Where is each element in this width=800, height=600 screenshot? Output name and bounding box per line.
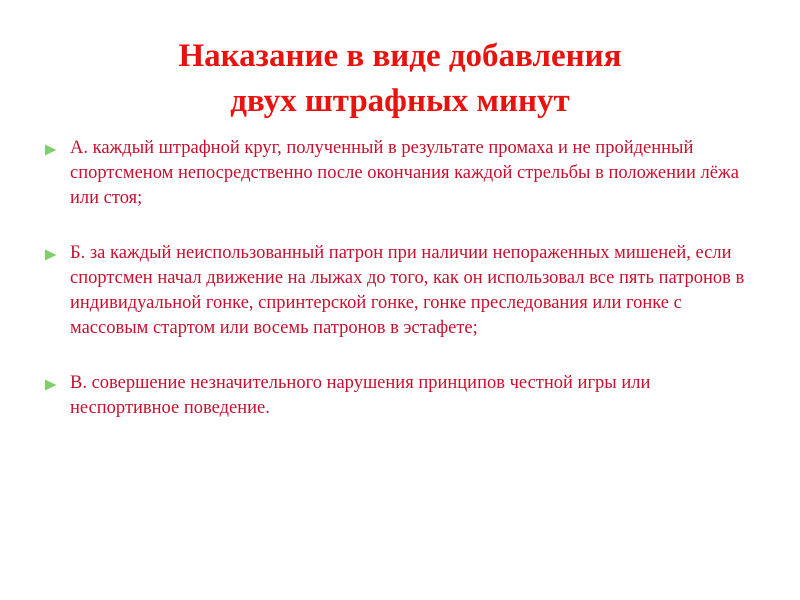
- green-arrow-bullet-icon: [44, 136, 70, 156]
- list-item: Б. за каждый неиспользованный патрон при…: [44, 241, 756, 341]
- presentation-slide: Наказание в виде добавления двух штрафны…: [0, 0, 800, 600]
- green-arrow-bullet-icon: [44, 371, 70, 391]
- slide-title: Наказание в виде добавления двух штрафны…: [60, 34, 740, 124]
- slide-body: А. каждый штрафной круг, полученный в ре…: [44, 136, 756, 421]
- slide-title-line-1: Наказание в виде добавления: [60, 34, 740, 79]
- list-item-text: В. совершение незначительного нарушения …: [70, 371, 756, 421]
- list-item-text: Б. за каждый неиспользованный патрон при…: [70, 241, 756, 341]
- list-item: В. совершение незначительного нарушения …: [44, 371, 756, 421]
- slide-title-line-2: двух штрафных минут: [60, 79, 740, 124]
- list-item-text: А. каждый штрафной круг, полученный в ре…: [70, 136, 756, 211]
- list-item: А. каждый штрафной круг, полученный в ре…: [44, 136, 756, 211]
- green-arrow-bullet-icon: [44, 241, 70, 261]
